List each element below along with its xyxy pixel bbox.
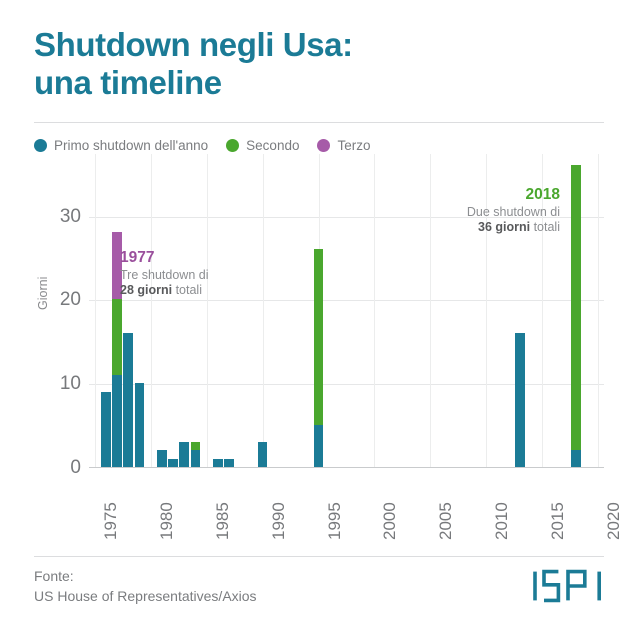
annotation-1977: 1977 Tre shutdown di 28 giorni totali [120,249,208,298]
annotation-1977-bold: 28 giorni [120,283,172,297]
legend-item-label: Secondo [246,138,299,153]
bar-1987[interactable] [224,459,234,467]
bar-segment-primo [123,333,133,467]
annotation-1977-line2: 28 giorni totali [120,283,208,298]
legend-item-2[interactable]: Secondo [226,138,299,153]
bar-segment-secondo [314,249,324,425]
x-tick-label: 1985 [213,502,233,540]
annotation-2018-year: 2018 [340,186,560,205]
annotation-2018-line2: 36 giorni totali [340,220,560,235]
bar-segment-primo [101,392,111,467]
bar-1983[interactable] [179,442,189,467]
y-gridline [89,384,604,385]
x-tick-label: 1975 [101,502,121,540]
x-gridline [263,154,264,467]
legend-item-label: Primo shutdown dell'anno [54,138,208,153]
bar-segment-primo [135,383,145,467]
bar-segment-primo [112,375,122,467]
bar-segment-primo [168,459,178,467]
x-tick-label: 2005 [436,502,456,540]
bar-segment-primo [179,442,189,467]
bar-segment-primo [571,450,581,467]
x-tick-label: 2000 [380,502,400,540]
source-value: US House of Representatives/Axios [34,587,604,607]
annotation-2018-line1: Due shutdown di [340,205,560,220]
annotation-1977-line1: Tre shutdown di [120,268,208,283]
bar-1979[interactable] [135,383,145,467]
bar-segment-primo [191,450,201,467]
y-tick-label: 20 [60,289,81,311]
x-gridline [207,154,208,467]
y-axis-label: Giorni [36,277,50,310]
bar-segment-primo [258,442,268,467]
x-tick-label: 1990 [269,502,289,540]
ispi-logo [532,569,604,603]
bar-1995[interactable] [314,249,324,467]
legend-item-label: Terzo [337,138,370,153]
bar-1990[interactable] [258,442,268,467]
bar-1978[interactable] [123,333,133,467]
bar-segment-primo [224,459,234,467]
x-gridline [598,154,599,467]
annotation-1977-year: 1977 [120,249,208,268]
bar-2013[interactable] [515,333,525,467]
bar-segment-secondo [191,442,201,450]
bar-segment-primo [314,425,324,467]
page-title: Shutdown negli Usa: una timeline [34,26,604,103]
bar-segment-secondo [571,165,581,450]
bar-segment-primo [157,450,167,467]
bar-1981[interactable] [157,450,167,467]
x-tick-label: 1980 [157,502,177,540]
bar-2018[interactable] [571,165,581,467]
bar-segment-primo [213,459,223,467]
footer: Fonte: US House of Representatives/Axios [34,556,604,607]
bar-segment-secondo [112,299,122,374]
legend-dot-icon [317,139,330,152]
x-gridline [95,154,96,467]
annotation-1977-tail: totali [172,283,202,297]
legend-item-1[interactable]: Primo shutdown dell'anno [34,138,208,153]
bar-1986[interactable] [213,459,223,467]
annotation-2018-tail: totali [530,220,560,234]
legend-item-3[interactable]: Terzo [317,138,370,153]
x-tick-label: 2020 [604,502,624,540]
bar-1984[interactable] [191,442,201,467]
x-gridline [151,154,152,467]
legend-dot-icon [34,139,47,152]
y-gridline [89,300,604,301]
title-line-1: Shutdown negli Usa: [34,26,604,64]
annotation-2018: 2018 Due shutdown di 36 giorni totali [340,186,560,235]
x-axis: 1975198019851990199520002005201020152020 [34,488,604,550]
bar-1982[interactable] [168,459,178,467]
bar-1976[interactable] [101,392,111,467]
annotation-2018-bold: 36 giorni [478,220,530,234]
y-gridline [89,468,604,469]
title-line-2: una timeline [34,64,604,102]
legend-dot-icon [226,139,239,152]
x-tick-label: 1995 [325,502,345,540]
y-tick-label: 30 [60,206,81,228]
source-label: Fonte: [34,567,604,587]
bar-segment-primo [515,333,525,467]
y-tick-label: 10 [60,373,81,395]
infographic-root: Shutdown negli Usa: una timeline Primo s… [0,0,638,638]
x-tick-label: 2010 [492,502,512,540]
y-tick-label: 0 [70,457,81,479]
x-tick-label: 2015 [548,502,568,540]
